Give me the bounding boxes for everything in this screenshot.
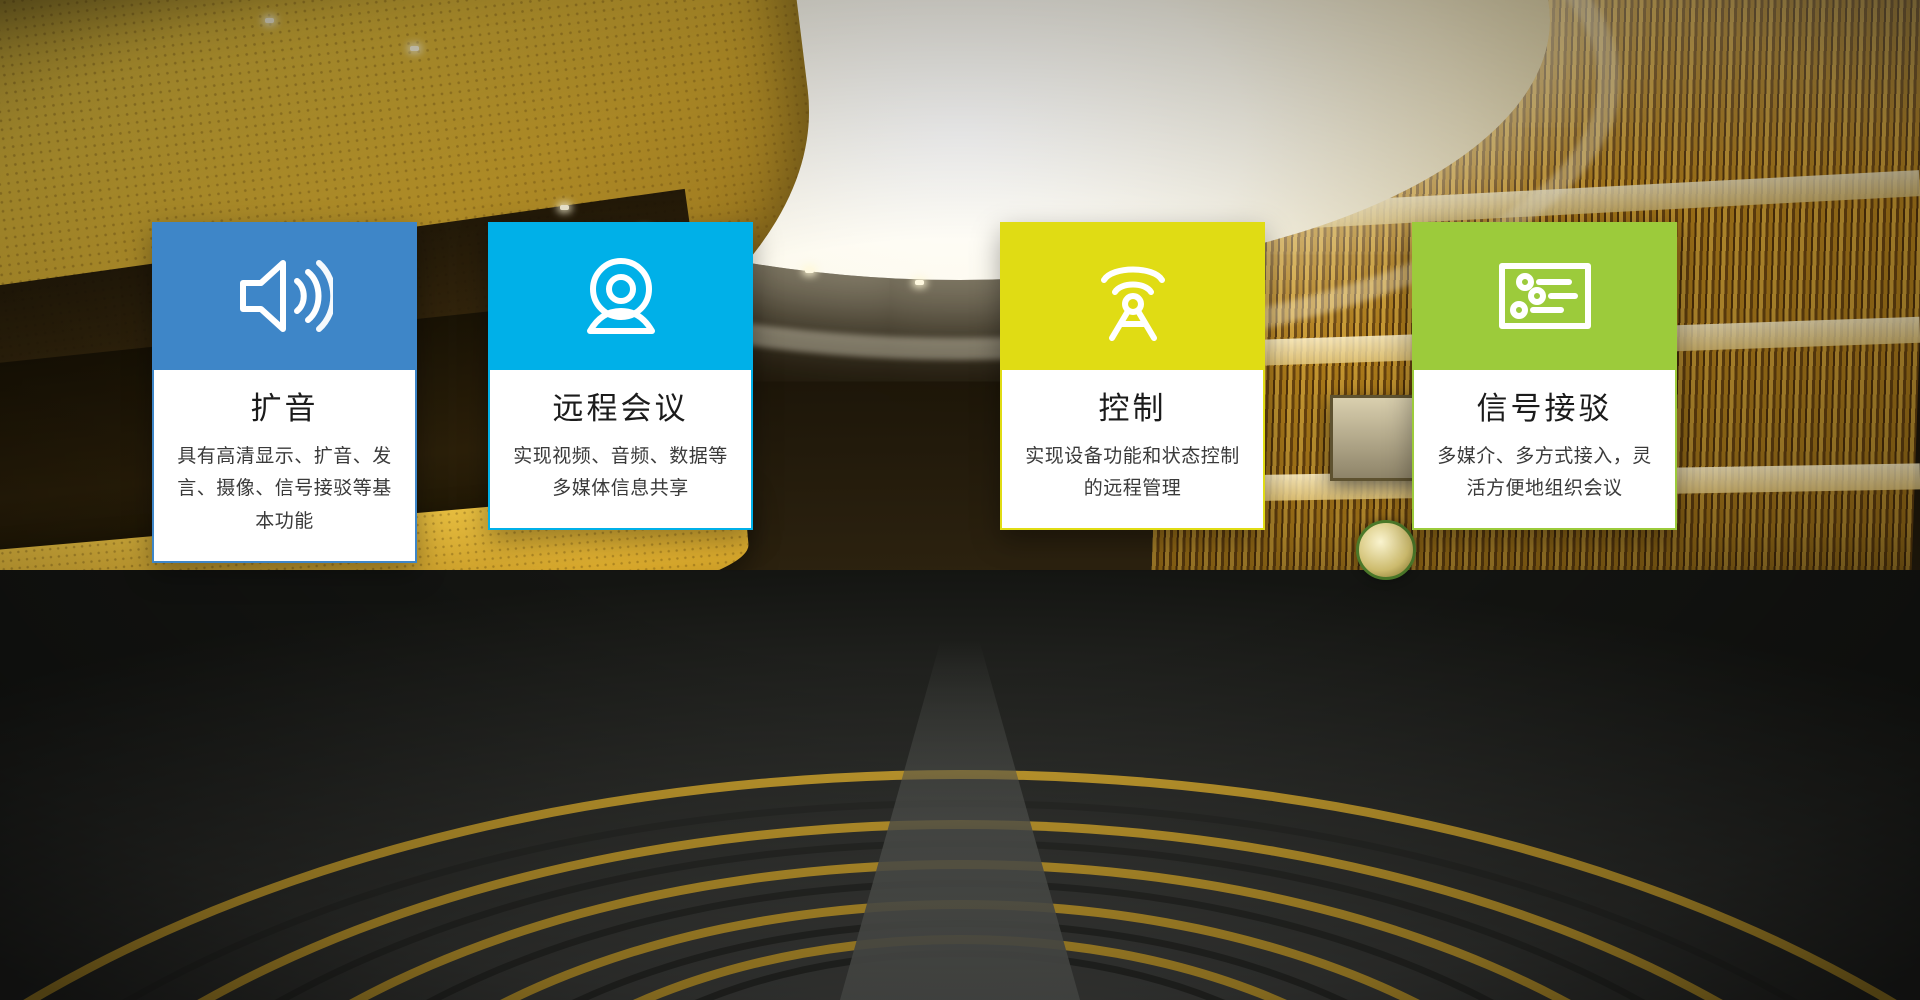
feature-card-control[interactable]: 控制 实现设备功能和状态控制的远程管理 <box>1000 222 1265 530</box>
feature-card-remote-conference[interactable]: 远程会议 实现视频、音频、数据等多媒体信息共享 <box>488 222 753 530</box>
feature-card-amplification[interactable]: 扩音 具有高清显示、扩音、发言、摄像、信号接驳等基本功能 <box>152 222 417 563</box>
card-desc-signal-access: 多媒介、多方式接入，灵活方便地组织会议 <box>1432 441 1657 506</box>
card-desc-control: 实现设备功能和状态控制的远程管理 <box>1020 441 1245 506</box>
card-body-amplification: 扩音 具有高清显示、扩音、发言、摄像、信号接驳等基本功能 <box>152 370 417 563</box>
feature-card-signal-access[interactable]: 信号接驳 多媒介、多方式接入，灵活方便地组织会议 <box>1412 222 1677 530</box>
card-desc-amplification: 具有高清显示、扩音、发言、摄像、信号接驳等基本功能 <box>172 441 397 539</box>
feature-card-list: 扩音 具有高清显示、扩音、发言、摄像、信号接驳等基本功能 远程会议 实现视频、音… <box>0 0 1920 1000</box>
card-header-remote-conference <box>488 222 753 370</box>
card-title-amplification: 扩音 <box>172 390 397 429</box>
speaker-volume-icon <box>237 253 333 339</box>
card-body-signal-access: 信号接驳 多媒介、多方式接入，灵活方便地组织会议 <box>1412 370 1677 530</box>
card-header-amplification <box>152 222 417 370</box>
card-desc-remote-conference: 实现视频、音频、数据等多媒体信息共享 <box>508 441 733 506</box>
webcam-icon <box>576 253 666 339</box>
broadcast-tower-icon <box>1092 250 1174 342</box>
card-title-remote-conference: 远程会议 <box>508 390 733 429</box>
card-header-signal-access <box>1412 222 1677 370</box>
feature-banner: 扩音 具有高清显示、扩音、发言、摄像、信号接驳等基本功能 远程会议 实现视频、音… <box>0 0 1920 1000</box>
card-title-control: 控制 <box>1020 390 1245 429</box>
card-body-remote-conference: 远程会议 实现视频、音频、数据等多媒体信息共享 <box>488 370 753 530</box>
card-body-control: 控制 实现设备功能和状态控制的远程管理 <box>1000 370 1265 530</box>
card-title-signal-access: 信号接驳 <box>1432 390 1657 429</box>
card-header-control <box>1000 222 1265 370</box>
signal-list-icon <box>1497 261 1593 331</box>
